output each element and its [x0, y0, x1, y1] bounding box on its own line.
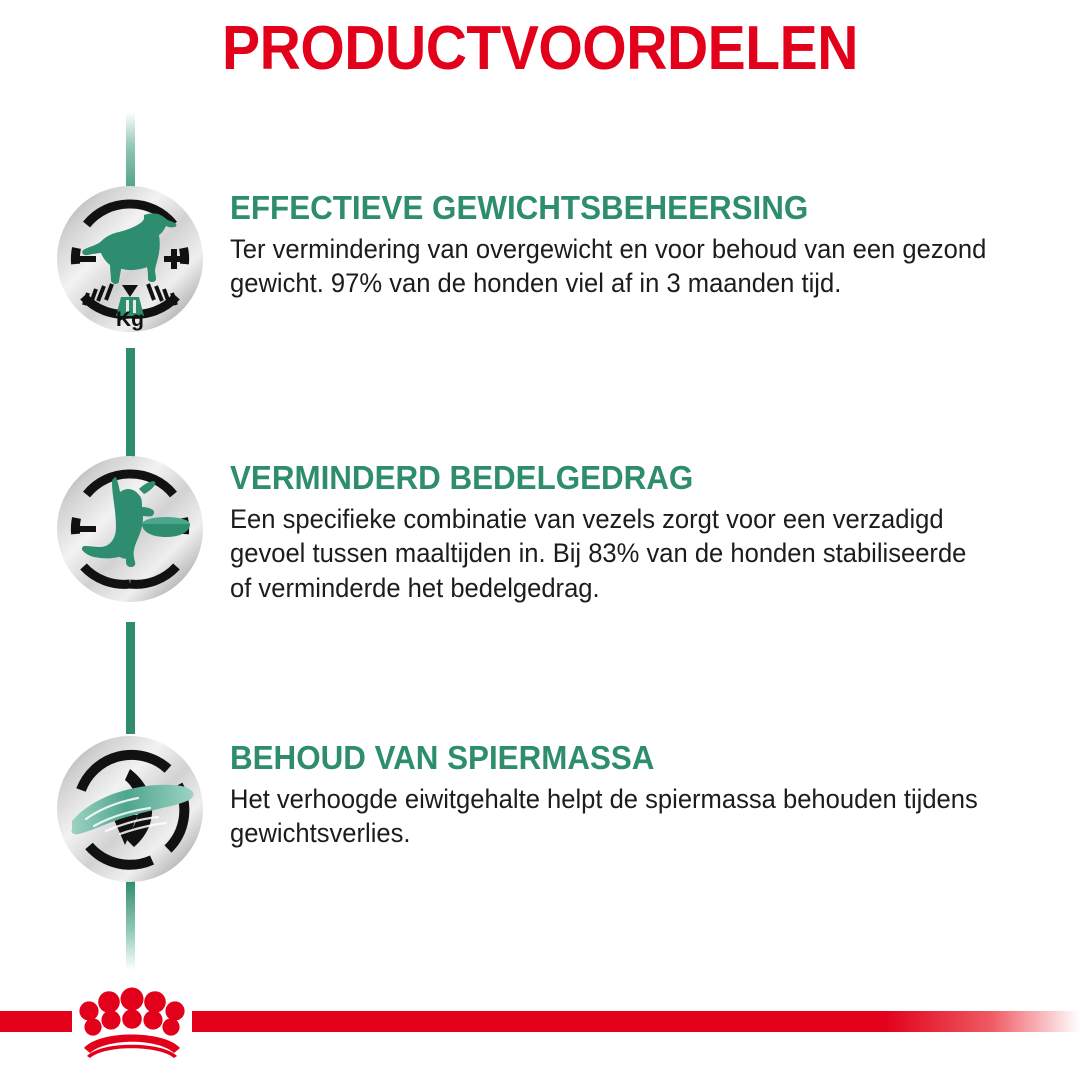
footer [0, 1011, 1080, 1080]
benefit-body: Ter vermindering van overgewicht en voor… [230, 232, 993, 301]
begging-dog-food-bowl-icon [56, 455, 204, 603]
benefit-item-weight-management: Kg EFFECTIEVE GEWICHTSBEHEERSING Ter ver… [0, 185, 1080, 333]
benefit-heading: EFFECTIEVE GEWICHTSBEHEERSING [230, 191, 952, 226]
benefit-body: Een specifieke combinatie van vezels zor… [230, 502, 993, 605]
connector-rail-middle-1 [126, 348, 135, 460]
muscle-mass-fiber-arrow-icon [56, 735, 204, 883]
weight-management-scale-dog-icon: Kg [56, 185, 204, 333]
page-title: PRODUCTVOORDELEN [43, 18, 1037, 80]
benefit-heading: VERMINDERD BEDELGEDRAG [230, 461, 952, 496]
footer-bar-left [0, 1011, 72, 1032]
connector-rail-bottom [126, 880, 135, 970]
benefit-item-muscle-mass: BEHOUD VAN SPIERMASSA Het verhoogde eiwi… [0, 735, 1080, 883]
benefit-body: Het verhoogde eiwitgehalte helpt de spie… [230, 782, 993, 851]
kg-unit-label: Kg [116, 308, 144, 331]
benefit-text-block: BEHOUD VAN SPIERMASSA Het verhoogde eiwi… [230, 735, 990, 851]
footer-bar-right [192, 1011, 1080, 1032]
benefit-heading: BEHOUD VAN SPIERMASSA [230, 741, 952, 776]
benefit-text-block: VERMINDERD BEDELGEDRAG Een specifieke co… [230, 455, 990, 605]
benefit-text-block: EFFECTIEVE GEWICHTSBEHEERSING Ter vermin… [230, 185, 990, 301]
benefit-item-reduced-begging: VERMINDERD BEDELGEDRAG Een specifieke co… [0, 455, 1080, 605]
connector-rail-middle-2 [126, 622, 135, 734]
royal-canin-crown-logo [70, 986, 194, 1058]
